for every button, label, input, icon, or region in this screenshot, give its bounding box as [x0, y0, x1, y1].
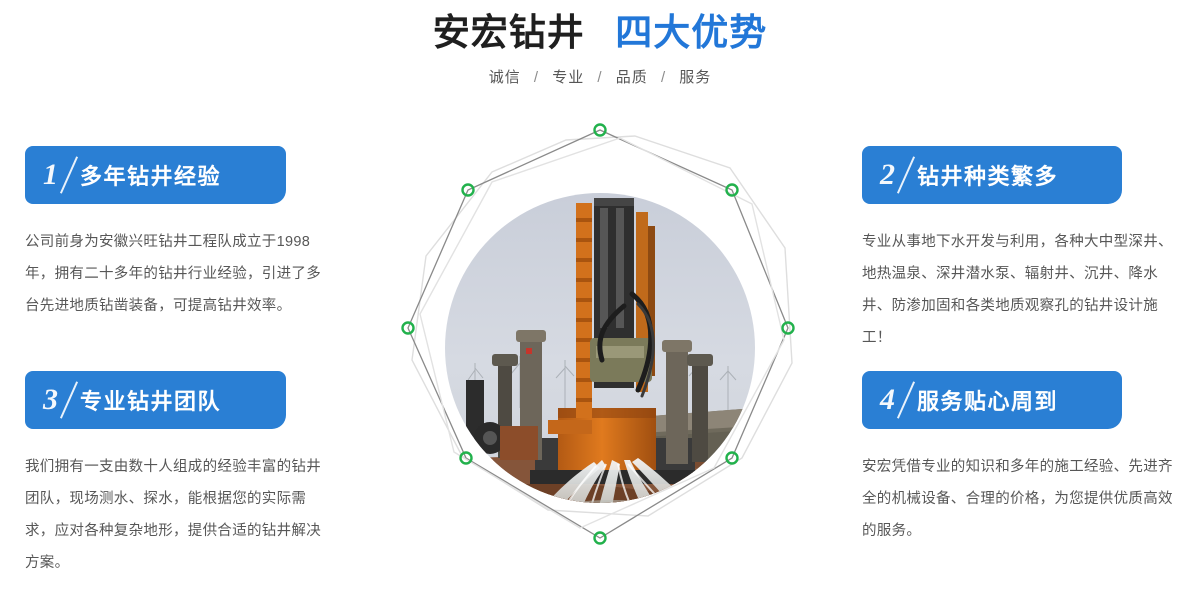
subtitle-separator-1: /: [597, 69, 602, 86]
subtitle-keywords: 诚信 / 专业 / 品质 / 服务: [0, 66, 1200, 87]
title-company: 安宏钻井: [433, 12, 585, 53]
feature-body-3: 我们拥有一支由数十人组成的经验丰富的钻井团队，现场测水、探水，能根据您的实际需求…: [25, 451, 335, 579]
decorative-ring-and-photo: [380, 108, 820, 588]
page-header: 安宏钻井 四大优势 诚信 / 专业 / 品质 / 服务: [0, 0, 1200, 87]
feature-number-icon-3: 3: [43, 385, 72, 415]
feature-number-icon-4: 4: [880, 385, 909, 415]
title-highlight: 四大优势: [615, 12, 767, 53]
feature-body-1: 公司前身为安徽兴旺钻井工程队成立于1998年，拥有二十多年的钻井行业经验，引进了…: [25, 226, 335, 322]
feature-card-4[interactable]: 4 服务贴心周到 安宏凭借专业的知识和多年的施工经验、先进齐全的机械设备、合理的…: [860, 371, 1200, 547]
feature-title-2: 钻井种类繁多: [917, 159, 1058, 191]
feature-badge-3: 3 专业钻井团队: [25, 371, 286, 429]
feature-badge-4: 4 服务贴心周到: [862, 371, 1122, 429]
feature-card-3[interactable]: 3 专业钻井团队 我们拥有一支由数十人组成的经验丰富的钻井团队，现场测水、探水，…: [0, 371, 340, 579]
subtitle-separator-2: /: [661, 69, 666, 86]
feature-body-2: 专业从事地下水开发与利用，各种大中型深井、地热温泉、深井潜水泵、辐射井、沉井、降…: [862, 226, 1182, 354]
feature-card-2[interactable]: 2 钻井种类繁多 专业从事地下水开发与利用，各种大中型深井、地热温泉、深井潜水泵…: [860, 146, 1200, 354]
feature-badge-2: 2 钻井种类繁多: [862, 146, 1122, 204]
subtitle-item-3: 服务: [679, 69, 711, 86]
feature-title-4: 服务贴心周到: [917, 384, 1058, 416]
feature-title-1: 多年钻井经验: [80, 159, 221, 191]
feature-body-4: 安宏凭借专业的知识和多年的施工经验、先进齐全的机械设备、合理的价格，为您提供优质…: [862, 451, 1182, 547]
drilling-rig-photo: [445, 193, 755, 532]
subtitle-item-1: 专业: [552, 69, 584, 86]
subtitle-separator-0: /: [534, 69, 539, 86]
center-graphic: [380, 108, 820, 588]
feature-card-1[interactable]: 1 多年钻井经验 公司前身为安徽兴旺钻井工程队成立于1998年，拥有二十多年的钻…: [0, 146, 340, 322]
feature-number-icon-2: 2: [880, 160, 909, 190]
feature-title-3: 专业钻井团队: [80, 384, 221, 416]
feature-number-icon-1: 1: [43, 160, 72, 190]
subtitle-item-2: 品质: [616, 69, 648, 86]
subtitle-item-0: 诚信: [489, 69, 521, 86]
page-title: 安宏钻井 四大优势: [0, 14, 1200, 51]
feature-badge-1: 1 多年钻井经验: [25, 146, 286, 204]
